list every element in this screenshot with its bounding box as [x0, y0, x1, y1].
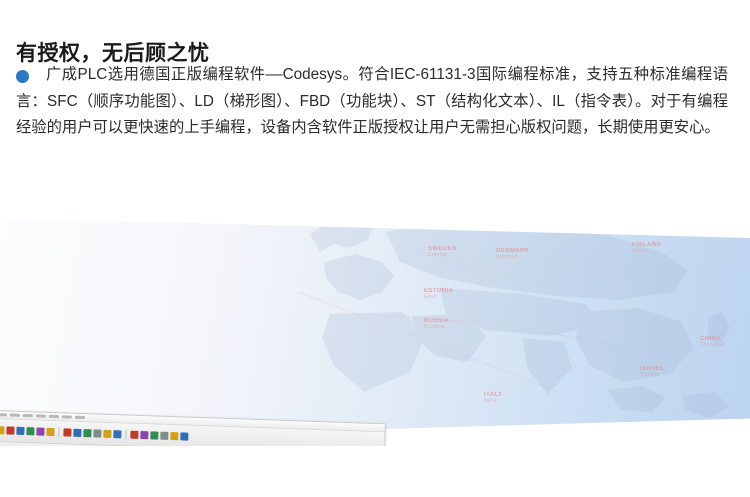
toolbar-button-icon[interactable]: [113, 430, 121, 438]
menu-item[interactable]: [10, 414, 20, 417]
toolbar-button-icon[interactable]: [170, 432, 178, 440]
menu-item[interactable]: [75, 416, 85, 419]
world-map-graphic: [0, 196, 750, 446]
toolbar-separator: [58, 427, 59, 437]
menu-item[interactable]: [49, 415, 59, 418]
toolbar-button-icon[interactable]: [63, 428, 71, 436]
toolbar-button-icon[interactable]: [36, 427, 44, 435]
toolbar-button-icon[interactable]: [26, 427, 34, 435]
menu-item[interactable]: [0, 413, 7, 416]
toolbar-separator: [125, 429, 126, 439]
menu-item[interactable]: [23, 414, 33, 417]
feature-section-page: 有授权，无后顾之忧 广成PLC选用德国正版编程软件––Codesys。符合IEC…: [0, 0, 750, 497]
feature-bullet-item: 广成PLC选用德国正版编程软件––Codesys。符合IEC-61131-3国际…: [16, 62, 728, 142]
toolbar-button-icon[interactable]: [0, 426, 5, 434]
toolbar-button-icon[interactable]: [130, 431, 138, 439]
toolbar-button-icon[interactable]: [83, 429, 91, 437]
menu-item[interactable]: [36, 414, 46, 417]
toolbar-button-icon[interactable]: [160, 432, 168, 440]
menu-item[interactable]: [62, 415, 72, 418]
toolbar-button-icon[interactable]: [46, 428, 54, 436]
toolbar-button-icon[interactable]: [180, 432, 188, 440]
toolbar-button-icon[interactable]: [140, 431, 148, 439]
toolbar-button-icon[interactable]: [73, 429, 81, 437]
toolbar-button-icon[interactable]: [150, 431, 158, 439]
toolbar-button-icon[interactable]: [6, 426, 14, 434]
toolbar-button-icon[interactable]: [16, 427, 24, 435]
toolbar-button-icon[interactable]: [93, 429, 101, 437]
bullet-dot-icon: [16, 70, 29, 83]
toolbar-button-icon[interactable]: [103, 430, 111, 438]
feature-description: 广成PLC选用德国正版编程软件––Codesys。符合IEC-61131-3国际…: [16, 62, 728, 142]
banner-background: NORWAYNorge SWEDENSverige DENMARKDanmark…: [0, 196, 750, 446]
promo-banner: NORWAYNorge SWEDENSverige DENMARKDanmark…: [0, 196, 750, 446]
